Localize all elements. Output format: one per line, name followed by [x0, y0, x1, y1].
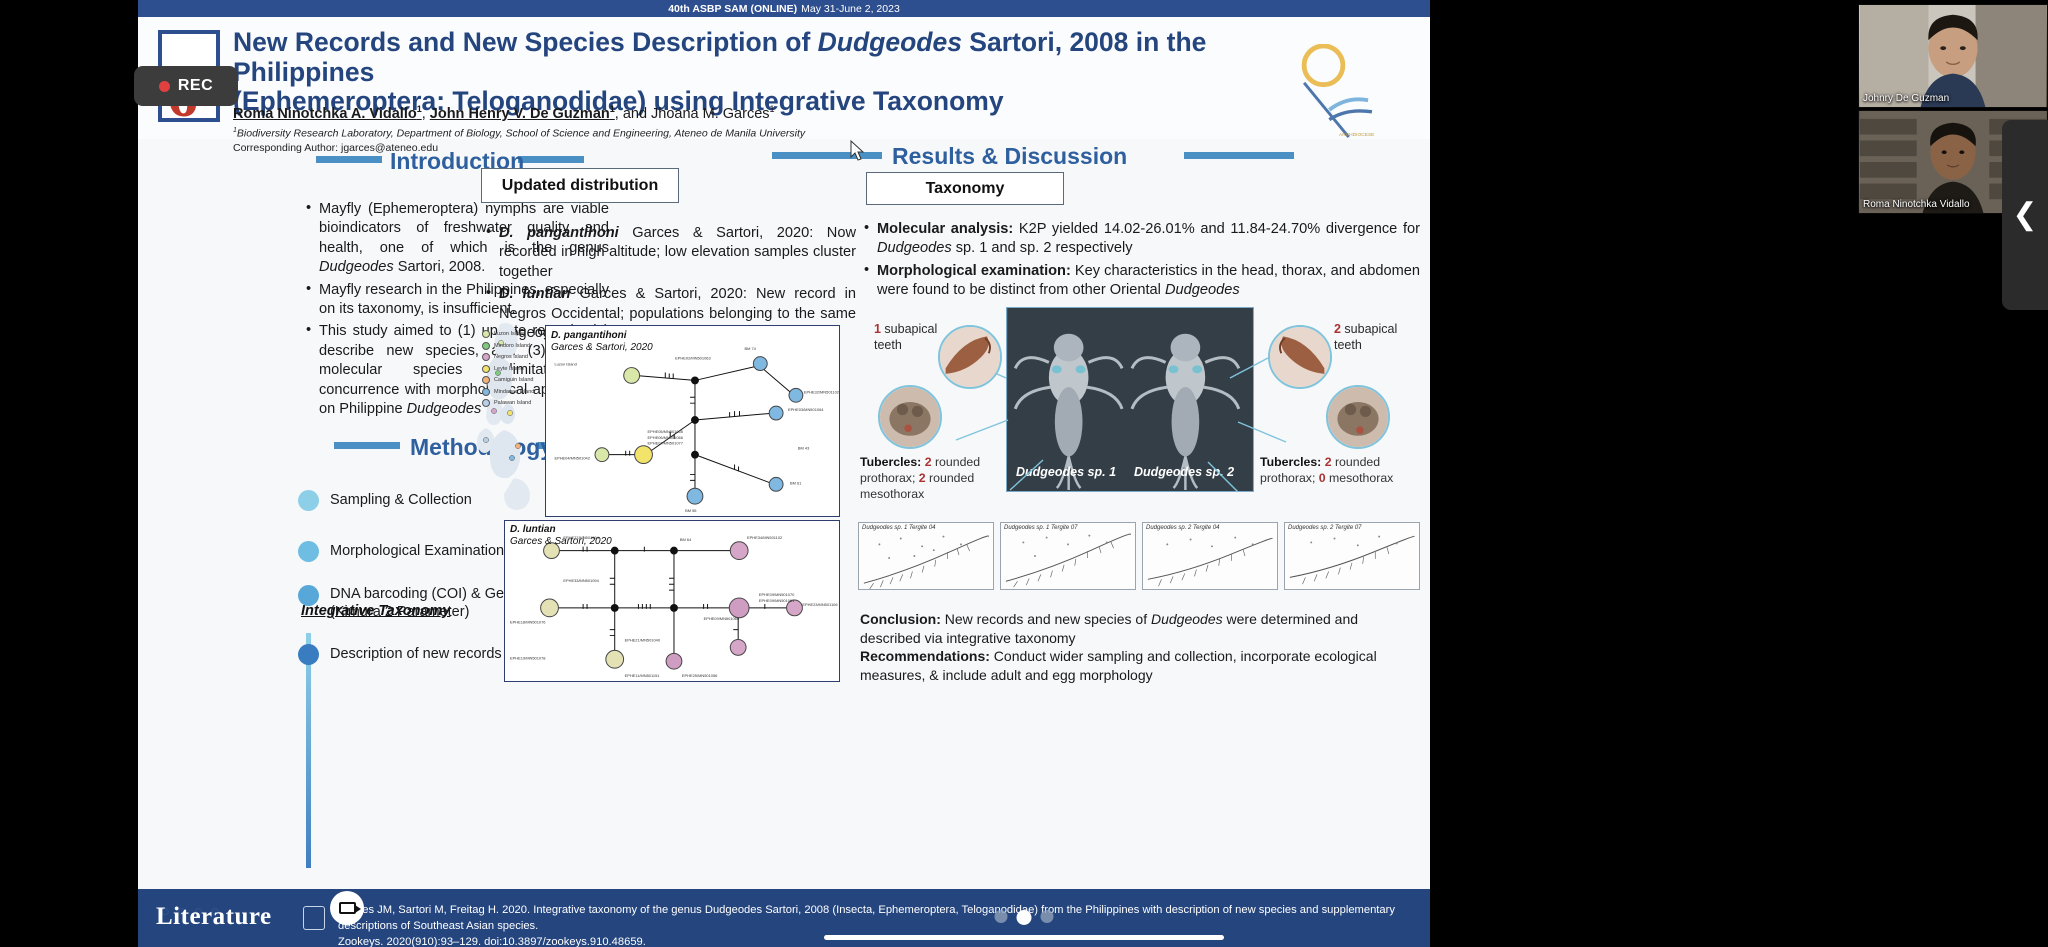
tergite-caption: Dudgeodes sp. 2 Tergite 04: [1146, 525, 1220, 531]
svg-text:EPHE32/MN501102: EPHE32/MN501102: [804, 389, 839, 394]
inset-prothorax-tubercles-left: [878, 385, 942, 449]
legend-color-swatch: [482, 388, 490, 396]
title-genus: Dudgeodes: [818, 27, 962, 57]
legend-color-swatch: [482, 365, 490, 373]
specimen-2-label: Dudgeodes sp. 2: [1134, 465, 1234, 479]
tubercles-left: Tubercles: 2 rounded prothorax; 2 rounde…: [860, 455, 990, 503]
haplotype-network-2-caption: D. luntian Garces & Sartori, 2020: [510, 524, 630, 548]
literature-heading: Literature: [156, 903, 272, 931]
svg-text:EPHE23/MN501106: EPHE23/MN501106: [802, 602, 838, 607]
svg-text:EPHE21/MN501040: EPHE21/MN501040: [625, 637, 661, 642]
list-item: Molecular analysis: K2P yielded 14.02-26…: [862, 220, 1420, 259]
tergite-caption: Dudgeodes sp. 1 Tergite 04: [862, 525, 936, 531]
svg-text:BM 74: BM 74: [744, 346, 756, 351]
conference-bar: 40th ASBP SAM (ONLINE) May 31-June 2, 20…: [138, 0, 1430, 17]
method-rule-left: [334, 442, 400, 449]
screen: REC 40th ASBP SAM (ONLINE) May 31-June 2…: [0, 0, 2048, 947]
results-rule-right: [1184, 152, 1294, 159]
svg-text:BM 61: BM 61: [790, 480, 801, 485]
svg-text:BM 64: BM 64: [680, 537, 692, 542]
svg-text:EPHE09/MN501061: EPHE09/MN501061: [759, 598, 794, 603]
slide-header: 6 New Records and New Species Descriptio…: [138, 17, 1430, 139]
inset-prothorax-tubercles-right: [1326, 385, 1390, 449]
inset-subapical-teeth-left: [938, 325, 1002, 389]
intro-rule-right: [518, 156, 584, 163]
section-title-results: Results & Discussion: [892, 143, 1127, 170]
svg-text:EPHE09/MN501070: EPHE09/MN501070: [759, 592, 795, 597]
recording-badge: REC: [134, 66, 238, 106]
svg-text:EPHE04/MN501042: EPHE04/MN501042: [554, 456, 589, 461]
haplotype-network-1-caption: D. pangantihoni Garces & Sartori, 2020: [551, 330, 671, 354]
svg-text:EPHE34/MN501102: EPHE34/MN501102: [747, 535, 782, 540]
tergite-caption: Dudgeodes sp. 1 Tergite 07: [1004, 525, 1078, 531]
progress-bar[interactable]: [824, 935, 1224, 940]
tergite-caption: Dudgeodes sp. 2 Tergite 07: [1288, 525, 1362, 531]
participant-2-name: Roma Ninotchka Vidallo: [1863, 199, 1970, 210]
participant-1-name: Johnry De Guzman: [1863, 93, 1949, 104]
tergite-panel: Dudgeodes sp. 2 Tergite 04: [1142, 522, 1278, 590]
specimen-1-label: Dudgeodes sp. 1: [1016, 465, 1116, 479]
conclusion-block: Conclusion: New records and new species …: [860, 610, 1420, 684]
book-icon: [303, 906, 325, 930]
list-item: D. pangantihoni Garces & Sartori, 2020: …: [484, 224, 856, 282]
svg-text:EPHE25/MN501056: EPHE25/MN501056: [682, 673, 718, 678]
legend-color-swatch: [482, 399, 490, 407]
updated-distribution-box: Updated distribution: [481, 168, 679, 203]
slide-dot[interactable]: [995, 910, 1008, 923]
svg-text:EPHE11/MN501151: EPHE11/MN501151: [625, 673, 660, 678]
svg-text:BM 43: BM 43: [798, 446, 810, 451]
legend-color-swatch: [482, 376, 490, 384]
methodology-step-dot: [298, 541, 319, 562]
svg-text:Luzon Island: Luzon Island: [554, 362, 576, 367]
svg-text:EPHE05/MN501065: EPHE05/MN501065: [647, 429, 683, 434]
author-3: , and Jhoana M. Garces: [615, 106, 770, 122]
methodology-step-dot: [298, 585, 319, 606]
tergite-panel: Dudgeodes sp. 1 Tergite 04: [858, 522, 994, 590]
callout-subapical-left: 1 subapical teeth: [874, 322, 940, 353]
slide-canvas: 40th ASBP SAM (ONLINE) May 31-June 2, 20…: [138, 0, 1430, 947]
affiliation: 1Biodiversity Research Laboratory, Depar…: [233, 127, 805, 140]
mouse-cursor: [850, 140, 866, 162]
recommendations-text: Recommendations: Conduct wider sampling …: [860, 647, 1420, 684]
slide-dot[interactable]: [1041, 910, 1054, 923]
taxonomy-box: Taxonomy: [866, 172, 1064, 205]
svg-text:BM 55: BM 55: [685, 508, 697, 513]
list-item: Morphological examination: Key character…: [862, 262, 1420, 301]
methodology-timeline: [306, 633, 311, 868]
inset-subapical-teeth-right: [1268, 325, 1332, 389]
svg-text:EPHE03/MN501064: EPHE03/MN501064: [788, 407, 824, 412]
author-2: John Henry V. De Guzman1: [430, 106, 615, 122]
record-dot-icon: [159, 81, 170, 92]
svg-text:EPHE19/MN501078: EPHE19/MN501078: [510, 655, 546, 660]
specimen-illustration: [1007, 308, 1253, 491]
svg-text:EPHE33/MN501094: EPHE33/MN501094: [563, 578, 599, 583]
tergite-panel: Dudgeodes sp. 1 Tergite 07: [1000, 522, 1136, 590]
collapse-sidebar-button[interactable]: ❮: [2002, 120, 2048, 310]
chevron-left-icon: ❮: [2012, 200, 2037, 230]
title-part-a: New Records and New Species Description …: [233, 27, 818, 57]
svg-text:EPHE06/MN501066: EPHE06/MN501066: [647, 435, 683, 440]
svg-text:EPHE09/MN501060: EPHE09/MN501060: [704, 616, 740, 621]
haplotype-network-diagram: Luzon Island EPHE02/MN501063 BM 74 EPHE3…: [546, 326, 839, 516]
conference-name: 40th ASBP SAM (ONLINE): [668, 3, 797, 15]
video-tile-participant-1[interactable]: Johnry De Guzman: [1858, 4, 2048, 108]
literature-reference: Garces JM, Sartori M, Freitag H. 2020. I…: [338, 902, 1398, 947]
participant-1-video: [1859, 5, 2047, 107]
slide-dots[interactable]: [995, 910, 1054, 925]
methodology-step-dot: [298, 644, 319, 665]
svg-text:EPHE18/MN501076: EPHE18/MN501076: [510, 620, 546, 625]
camera-toggle-button[interactable]: [330, 891, 364, 925]
intro-rule-left: [316, 156, 382, 163]
slide-dot-active[interactable]: [1017, 910, 1032, 925]
tergite-panel: Dudgeodes sp. 2 Tergite 07: [1284, 522, 1420, 590]
svg-text:EPHE02/MN501063: EPHE02/MN501063: [675, 356, 711, 361]
methodology-step-dot: [298, 490, 319, 511]
tubercles-right: Tubercles: 2 rounded prothorax; 0 mesoth…: [1260, 455, 1420, 487]
recording-label: REC: [178, 77, 213, 95]
university-seal-icon: ARCHDIOCESE: [1300, 44, 1378, 139]
conclusion-text: Conclusion: New records and new species …: [860, 610, 1420, 647]
author-list: Roma Ninotchka A. Vidallo1, John Henry V…: [233, 104, 775, 122]
svg-text:ARCHDIOCESE: ARCHDIOCESE: [1339, 132, 1375, 138]
svg-text:EPHE07/MN501077: EPHE07/MN501077: [647, 441, 682, 446]
results-bullets: Molecular analysis: K2P yielded 14.02-26…: [862, 220, 1420, 304]
legend-color-swatch: [482, 330, 490, 338]
conference-dates: May 31-June 2, 2023: [801, 3, 900, 15]
callout-subapical-right: 2 subapical teeth: [1334, 322, 1404, 353]
camera-icon: [339, 902, 356, 914]
author-1: Roma Ninotchka A. Vidallo1: [233, 106, 422, 122]
legend-color-swatch: [482, 342, 490, 350]
legend-color-swatch: [482, 353, 490, 361]
